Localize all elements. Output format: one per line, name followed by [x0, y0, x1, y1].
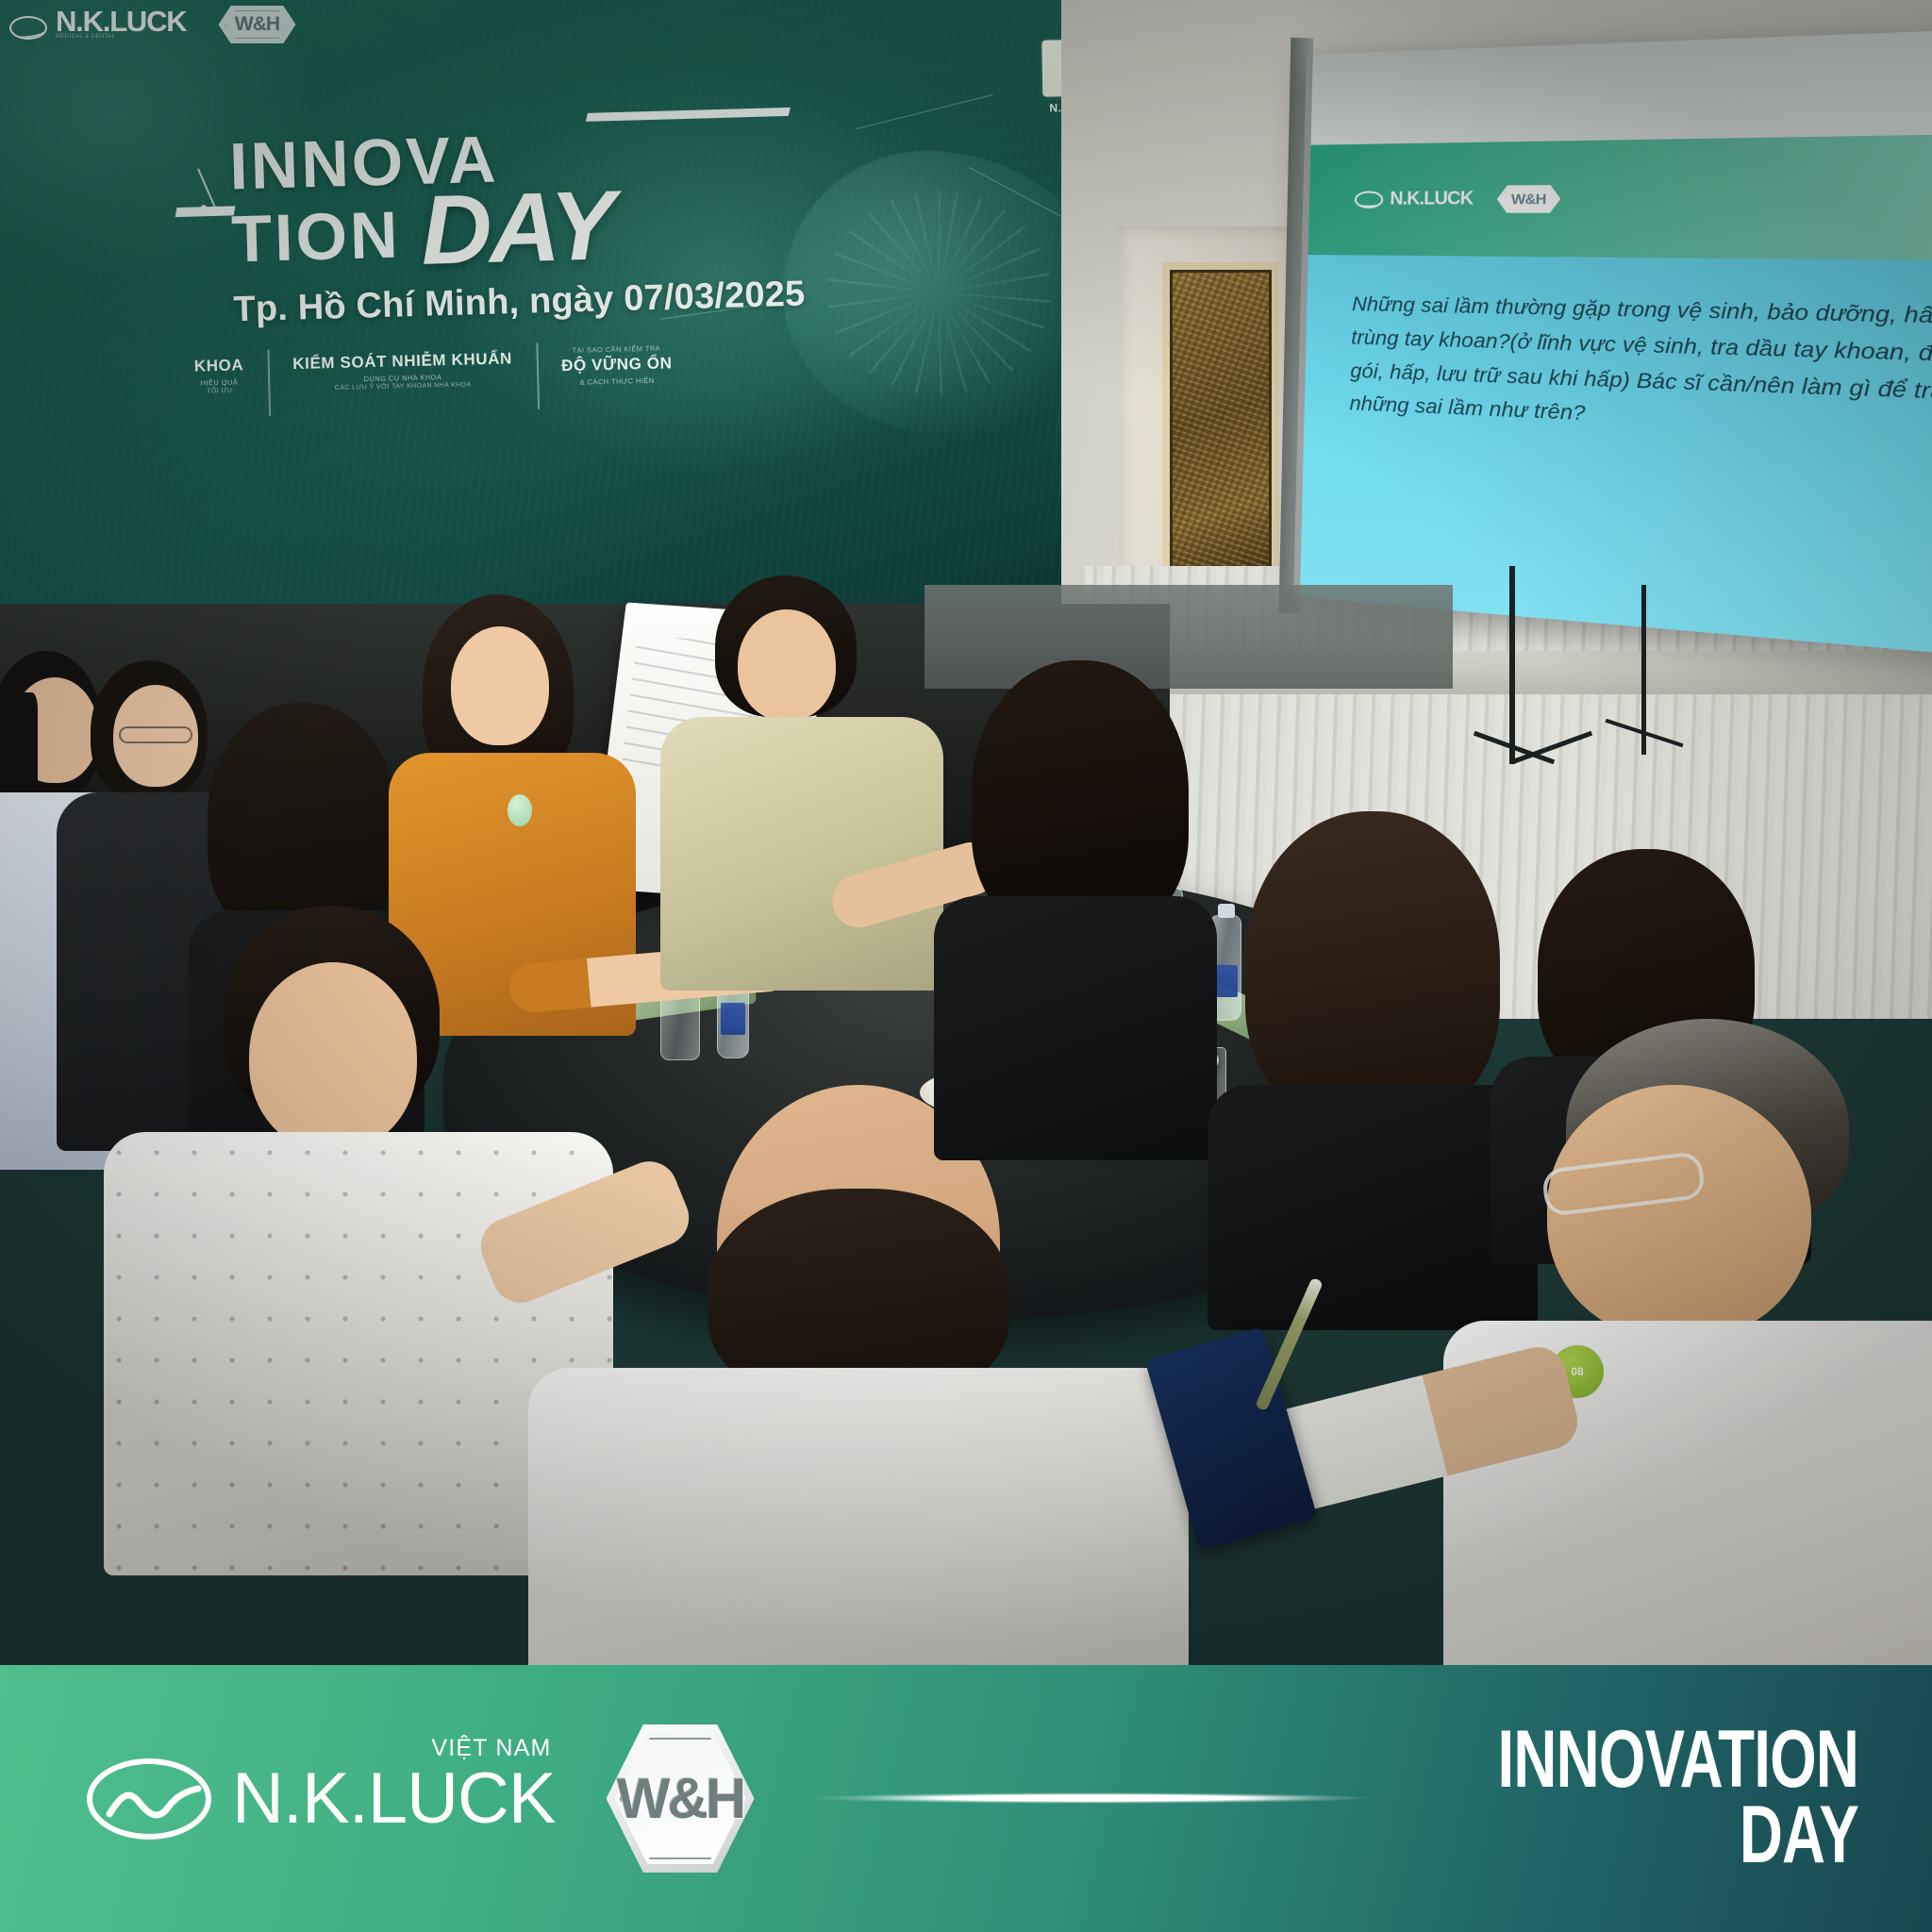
event-title-line2: DAY: [1497, 1797, 1858, 1874]
hero-tick-dot: [200, 205, 207, 211]
footer-event-group: INNOVATION DAY: [808, 1723, 1932, 1874]
nk-luck-wordmark: N.K.LUCK: [232, 1758, 556, 1839]
wh-wordmark: W&H: [607, 1724, 755, 1873]
nk-luck-region: VIỆT NAM: [431, 1735, 551, 1762]
footer-logo-group: VIỆT NAM N.K.LUCK W&H: [0, 1724, 755, 1873]
topic-sub: HIỆU QUẢ: [194, 377, 244, 387]
wh-wordmark: W&H: [219, 6, 296, 43]
wh-hex-outer: [219, 6, 296, 43]
projector-screen: N.K.LUCK W&H INNOVA TION Những sai lầm t…: [1293, 27, 1932, 659]
topic-sub2: [562, 385, 673, 388]
event-title-stack: INNOVATION DAY: [1371, 1723, 1858, 1874]
attendee-beige-blazer: [689, 575, 943, 972]
topic-pre: TẠI SAO CẦN KIỂM TRA: [561, 343, 673, 355]
wh-logo-small: W&H: [219, 6, 296, 43]
nk-wave-icon: [9, 16, 47, 40]
topic-title: KIỂM SOÁT NHIỄM KHUẨN: [292, 349, 512, 374]
tripod-stand: [1641, 585, 1646, 755]
slide-wh-logo: W&H: [1496, 185, 1560, 213]
network-line: [969, 167, 1069, 221]
topic-item: KHOA HIỆU QUẢ TỐI ƯU: [170, 354, 270, 398]
wh-hex-inner: [225, 10, 290, 39]
hero-location-date: Tp. Hồ Chí Minh, ngày 07/03/2025: [233, 275, 806, 331]
topic-title: KHOA: [194, 356, 244, 375]
globe-graphic: [783, 151, 1094, 434]
name-badge: [508, 794, 532, 826]
topic-pre: [292, 347, 512, 353]
topic-sub: DỤNG CỤ NHA KHOA: [293, 371, 513, 385]
hero-tick: [197, 169, 215, 208]
face: [249, 962, 417, 1151]
torso: [934, 896, 1217, 1160]
wh-logo: W&H: [607, 1724, 755, 1873]
face: [451, 626, 549, 745]
hair: [208, 703, 396, 939]
topic-sub2: TỐI ƯU: [194, 387, 244, 394]
nk-luck-wordmark-group: VIỆT NAM N.K.LUCK: [232, 1763, 556, 1835]
event-photo: N.K.LUCK MEDICAL & DENTAL W&H INNOVA: [0, 0, 1932, 1665]
slide-nk-wordmark: N.K.LUCK: [1390, 189, 1473, 210]
hero-day-word: DAY: [420, 188, 613, 270]
topic-sub: & CÁCH THỰC HIỆN: [561, 375, 673, 387]
hero-line-1: INNOVA: [228, 113, 802, 205]
attendee-front-left: [132, 906, 575, 1566]
slide-header-bar: N.K.LUCK W&H INNOVA TION: [1308, 133, 1932, 260]
slide-wh-wordmark: W&H: [1511, 191, 1546, 208]
torso-shirt: [528, 1368, 1189, 1665]
event-backdrop: N.K.LUCK MEDICAL & DENTAL W&H INNOVA: [0, 0, 1160, 651]
topic-item: TẠI SAO CẦN KIỂM TRA ĐỘ VỮNG ỔN & CÁCH T…: [537, 343, 697, 389]
slide-nk-logo: N.K.LUCK: [1355, 189, 1474, 210]
screenshot-root: N.K.LUCK MEDICAL & DENTAL W&H INNOVA: [0, 0, 1932, 1932]
attendee-right-1: [943, 660, 1217, 1151]
torso-blazer: [660, 717, 943, 991]
nk-luck-wordmark: N.K.LUCK: [56, 9, 187, 34]
attendee-front-center: [575, 1085, 1123, 1665]
slide-question-text: Những sai lầm thường gặp trong vệ sinh, …: [1349, 288, 1932, 450]
event-title-line1: INNOVATION: [1497, 1723, 1858, 1797]
backdrop-topic-strip: KHOA HIỆU QUẢ TỐI ƯU KIỂM SOÁT NHIỄM KHU…: [170, 339, 888, 398]
nk-luck-logo: VIỆT NAM N.K.LUCK: [87, 1758, 556, 1840]
divider-lens: [808, 1792, 1374, 1804]
network-line: [660, 304, 763, 319]
eyeglasses-icon: [119, 726, 192, 743]
topic-item: KIỂM SOÁT NHIỄM KHUẨN DỤNG CỤ NHA KHOA C…: [268, 347, 538, 395]
attendee-front-right: 08: [1453, 1019, 1932, 1665]
nk-luck-logo-small: N.K.LUCK MEDICAL & DENTAL: [9, 9, 187, 40]
framed-artwork: [1170, 270, 1272, 570]
face: [738, 609, 836, 721]
nk-luck-tagline: MEDICAL & DENTAL: [56, 34, 187, 40]
hero-line-2: TION: [230, 197, 401, 277]
topic-sub2: CÁC LƯU Ý VỚI TAY KHOAN NHA KHOA: [293, 380, 513, 392]
topic-pre: [194, 354, 243, 355]
backdrop-logo-row: N.K.LUCK MEDICAL & DENTAL W&H: [9, 6, 296, 43]
hero-overbar: [586, 108, 791, 122]
hair: [972, 660, 1189, 934]
tripod-stand: [1509, 566, 1515, 764]
network-line: [856, 94, 993, 129]
innovation-day-hero: INNOVA TION DAY Tp. Hồ Chí Minh, ngày 07…: [228, 113, 806, 331]
hero-dash: [175, 206, 236, 217]
brand-footer-bar: VIỆT NAM N.K.LUCK W&H INNOVATION DAY: [0, 1665, 1932, 1932]
topic-title: ĐỘ VỮNG ỔN: [561, 354, 673, 375]
nk-wave-icon: [1355, 191, 1384, 208]
nk-wave-icon: [87, 1758, 211, 1840]
